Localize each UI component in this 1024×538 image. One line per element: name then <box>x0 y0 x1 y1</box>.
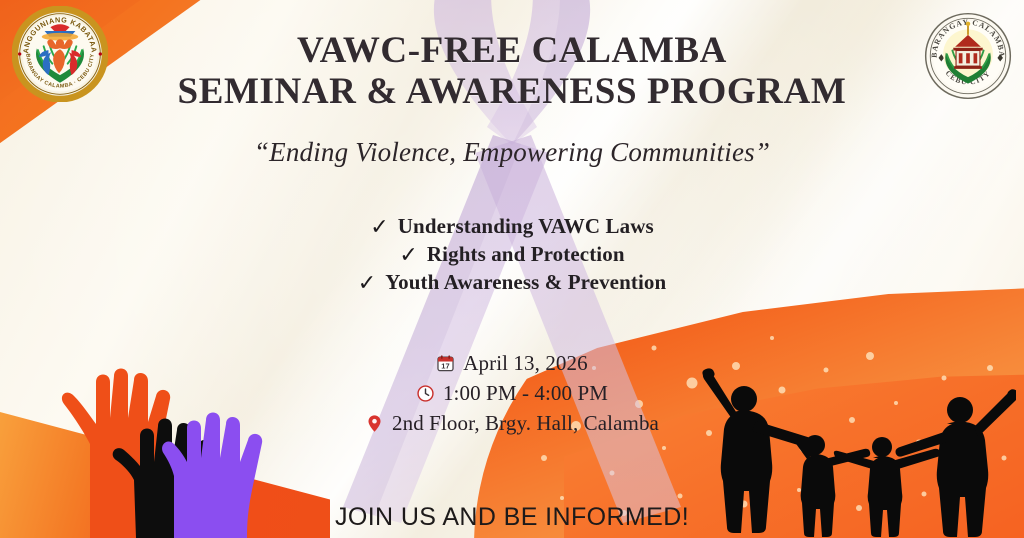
clock-icon <box>416 384 435 403</box>
calendar-icon: 17 <box>436 354 455 373</box>
check-icon: ✓ <box>370 216 389 238</box>
check-icon: ✓ <box>399 244 418 266</box>
poster-canvas: SANGGUNIANG KABATAAN BARANGAY CALAMBA · … <box>0 0 1024 538</box>
checklist: ✓ Understanding VAWC Laws ✓ Rights and P… <box>358 214 667 295</box>
event-time-row: 1:00 PM - 4:00 PM <box>416 381 608 406</box>
poster-content: VAWC-FREE CALAMBA SEMINAR & AWARENESS PR… <box>0 0 1024 538</box>
checklist-item: ✓ Understanding VAWC Laws <box>370 214 653 239</box>
title-block: VAWC-FREE CALAMBA SEMINAR & AWARENESS PR… <box>178 30 847 113</box>
poster-title-line-2: SEMINAR & AWARENESS PROGRAM <box>178 71 847 112</box>
event-location-row: 2nd Floor, Brgy. Hall, Calamba <box>365 411 659 436</box>
location-pin-icon <box>365 414 384 433</box>
checklist-item: ✓ Youth Awareness & Prevention <box>358 270 667 295</box>
poster-tagline: “Ending Violence, Empowering Communities… <box>254 137 770 168</box>
event-time-text: 1:00 PM - 4:00 PM <box>443 381 608 406</box>
event-date-row: 17 April 13, 2026 <box>436 351 587 376</box>
checklist-item-label: Rights and Protection <box>427 242 625 267</box>
calendar-day-number: 17 <box>441 361 450 370</box>
check-icon: ✓ <box>358 272 377 294</box>
poster-title-line-1: VAWC-FREE CALAMBA <box>178 30 847 71</box>
event-date-text: April 13, 2026 <box>463 351 587 376</box>
checklist-item: ✓ Rights and Protection <box>399 242 624 267</box>
event-location-text: 2nd Floor, Brgy. Hall, Calamba <box>392 411 659 436</box>
checklist-item-label: Youth Awareness & Prevention <box>385 270 666 295</box>
checklist-item-label: Understanding VAWC Laws <box>398 214 654 239</box>
event-details: 17 April 13, 2026 1:00 PM - 4:00 PM 2nd … <box>365 351 659 436</box>
